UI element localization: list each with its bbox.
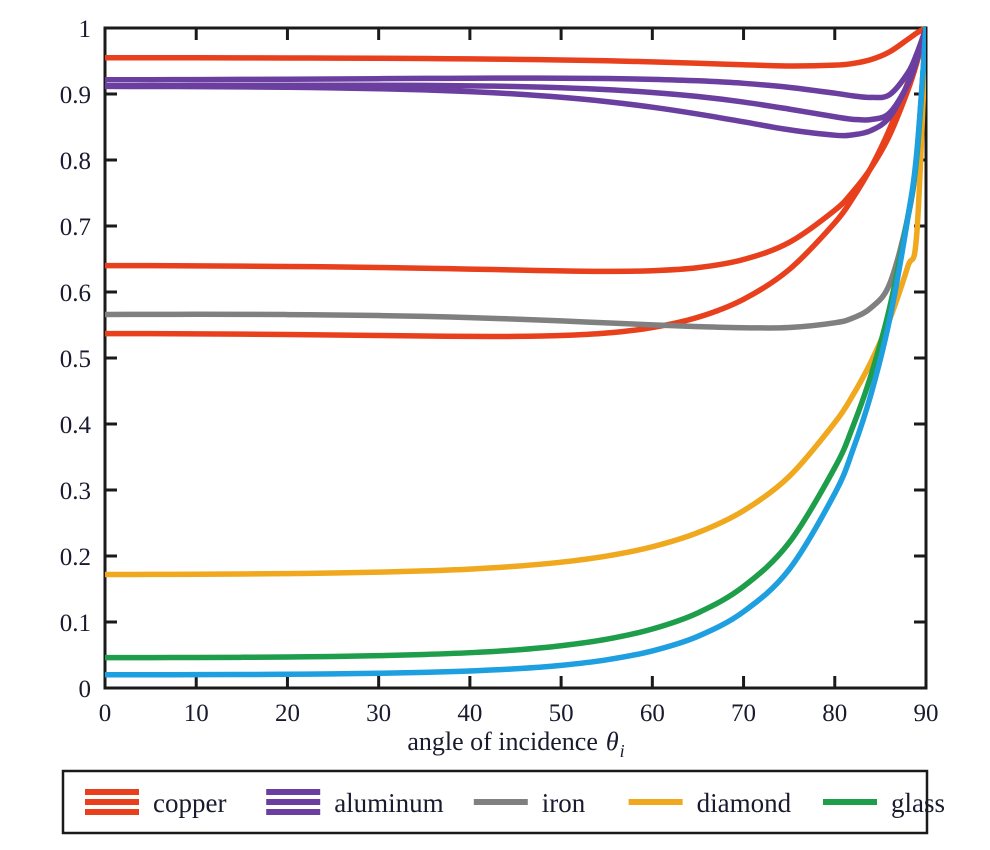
legend-label-aluminum: aluminum: [334, 788, 444, 818]
y-tick-label: 0: [79, 676, 92, 703]
y-tick-label: 0.2: [60, 544, 91, 571]
x-tick-label: 80: [822, 700, 847, 727]
x-axis-title: angle of incidence θ i: [407, 727, 624, 761]
x-tick-label: 20: [275, 700, 300, 727]
x-tick-label: 0: [99, 700, 112, 727]
y-tick-label: 1: [79, 16, 92, 43]
x-tick-label: 70: [731, 700, 756, 727]
y-tick-label: 0.6: [60, 280, 91, 307]
legend-label-glass: glass: [891, 788, 945, 818]
y-tick-label: 0.3: [60, 478, 91, 505]
legend-label-diamond: diamond: [697, 788, 792, 818]
fresnel-reflectance-chart: 010203040506070809000.10.20.30.40.50.60.…: [0, 0, 990, 850]
y-tick-label: 0.8: [60, 148, 91, 175]
x-tick-label: 60: [640, 700, 665, 727]
legend-label-copper: copper: [153, 788, 226, 818]
y-tick-label: 0.4: [60, 412, 92, 439]
x-tick-label: 10: [184, 700, 209, 727]
legend-label-iron: iron: [542, 788, 586, 818]
y-tick-label: 0.5: [60, 346, 91, 373]
x-axis-title-subscript: i: [620, 741, 625, 761]
x-axis-title-text: angle of incidence: [407, 727, 598, 756]
reflectance-chart-figure: 010203040506070809000.10.20.30.40.50.60.…: [0, 0, 990, 850]
x-tick-label: 30: [366, 700, 391, 727]
y-tick-label: 0.1: [60, 610, 91, 637]
x-axis-title-symbol: θ: [606, 727, 619, 756]
y-tick-label: 0.7: [60, 214, 91, 241]
x-tick-label: 50: [549, 700, 574, 727]
legend-item-aluminum[interactable]: aluminum: [266, 788, 444, 818]
legend-item-copper[interactable]: copper: [85, 788, 226, 818]
y-tick-label: 0.9: [60, 82, 91, 109]
x-tick-label: 40: [457, 700, 482, 727]
x-tick-label: 90: [914, 700, 939, 727]
